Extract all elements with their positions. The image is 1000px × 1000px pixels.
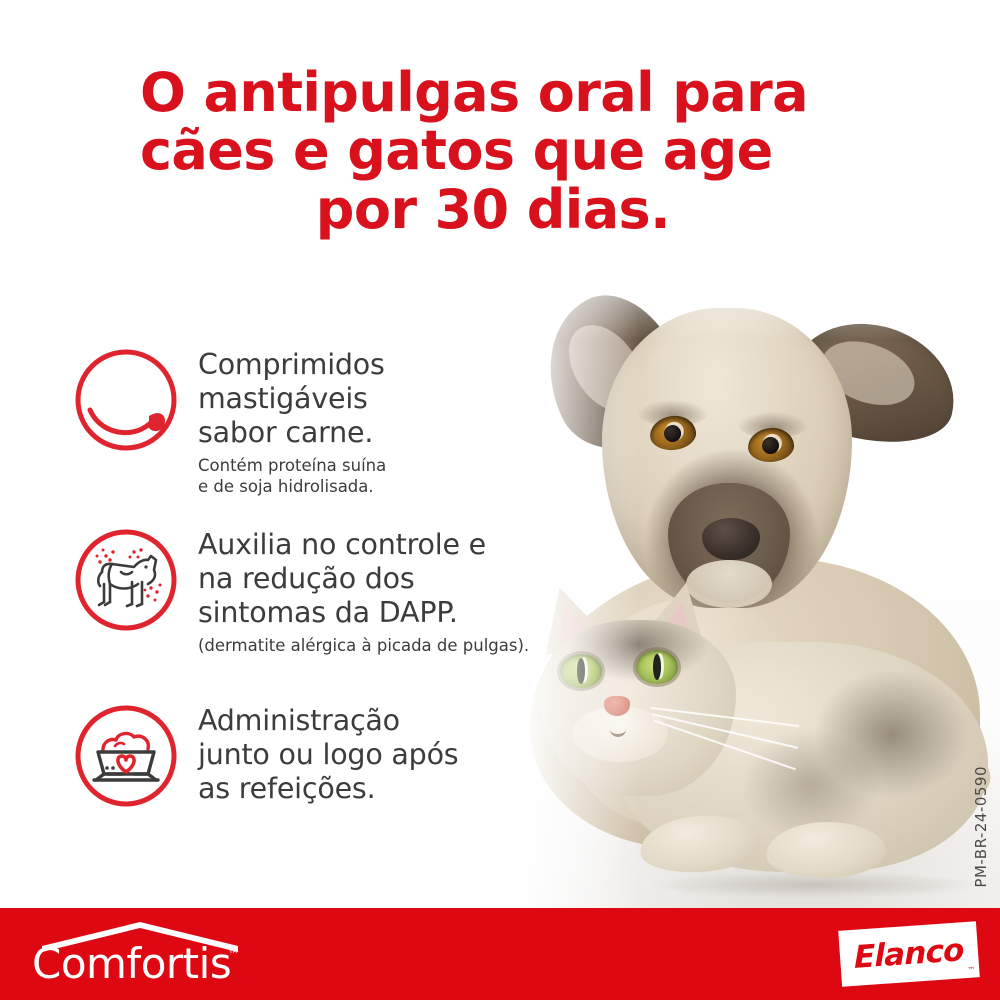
- itchy-dog-fleas-icon: [72, 526, 180, 634]
- feature-item-dapp: Auxilia no controle e na redução dos sin…: [72, 526, 592, 678]
- headline-line-3: por 30 dias.: [140, 181, 670, 239]
- feature-subtitle: Contém proteína suína e de soja hidrolis…: [198, 455, 386, 499]
- regulatory-code: PM-BR-24-0590: [972, 766, 990, 888]
- feature-title: Auxilia no controle e na redução dos sin…: [198, 528, 529, 631]
- food-bowl-heart-icon: [72, 702, 180, 810]
- elanco-wordmark: Elanco: [854, 932, 964, 976]
- footer-bar: Comfortis ™ Elanco ™: [0, 908, 1000, 1000]
- feature-item-chewable: Comprimidos mastigáveis sabor carne. Con…: [72, 346, 592, 502]
- feature-title: Comprimidos mastigáveis sabor carne.: [198, 348, 386, 451]
- feature-list: Comprimidos mastigáveis sabor carne. Con…: [72, 346, 592, 866]
- feature-item-meal: Administração junto ou logo após as refe…: [72, 702, 592, 842]
- svg-text:™: ™: [228, 948, 239, 961]
- cat-eye-right: [636, 650, 678, 684]
- headline: O antipulgas oral para cães e gatos que …: [140, 64, 670, 239]
- dog-nose: [702, 518, 760, 560]
- cat-whiskers: [650, 710, 810, 780]
- feature-text-dapp: Auxilia no controle e na redução dos sin…: [198, 526, 529, 656]
- feature-title: Administração junto ou logo após as refe…: [198, 704, 458, 807]
- feature-subtitle: (dermatite alérgica à picada de pulgas).: [198, 635, 529, 657]
- advertisement-canvas: O antipulgas oral para cães e gatos que …: [0, 0, 1000, 1000]
- svg-text:Comfortis: Comfortis: [32, 939, 231, 986]
- headline-line-1: O antipulgas oral para: [140, 64, 670, 122]
- elanco-logo[interactable]: Elanco ™: [838, 921, 980, 986]
- comfortis-logo[interactable]: Comfortis ™: [32, 922, 252, 986]
- feature-text-chewable: Comprimidos mastigáveis sabor carne. Con…: [198, 346, 386, 498]
- feature-text-meal: Administração junto ou logo após as refe…: [198, 702, 458, 811]
- headline-line-2: cães e gatos que age: [140, 122, 670, 180]
- chewable-tongue-icon: [72, 346, 180, 454]
- elanco-trademark: ™: [967, 965, 976, 975]
